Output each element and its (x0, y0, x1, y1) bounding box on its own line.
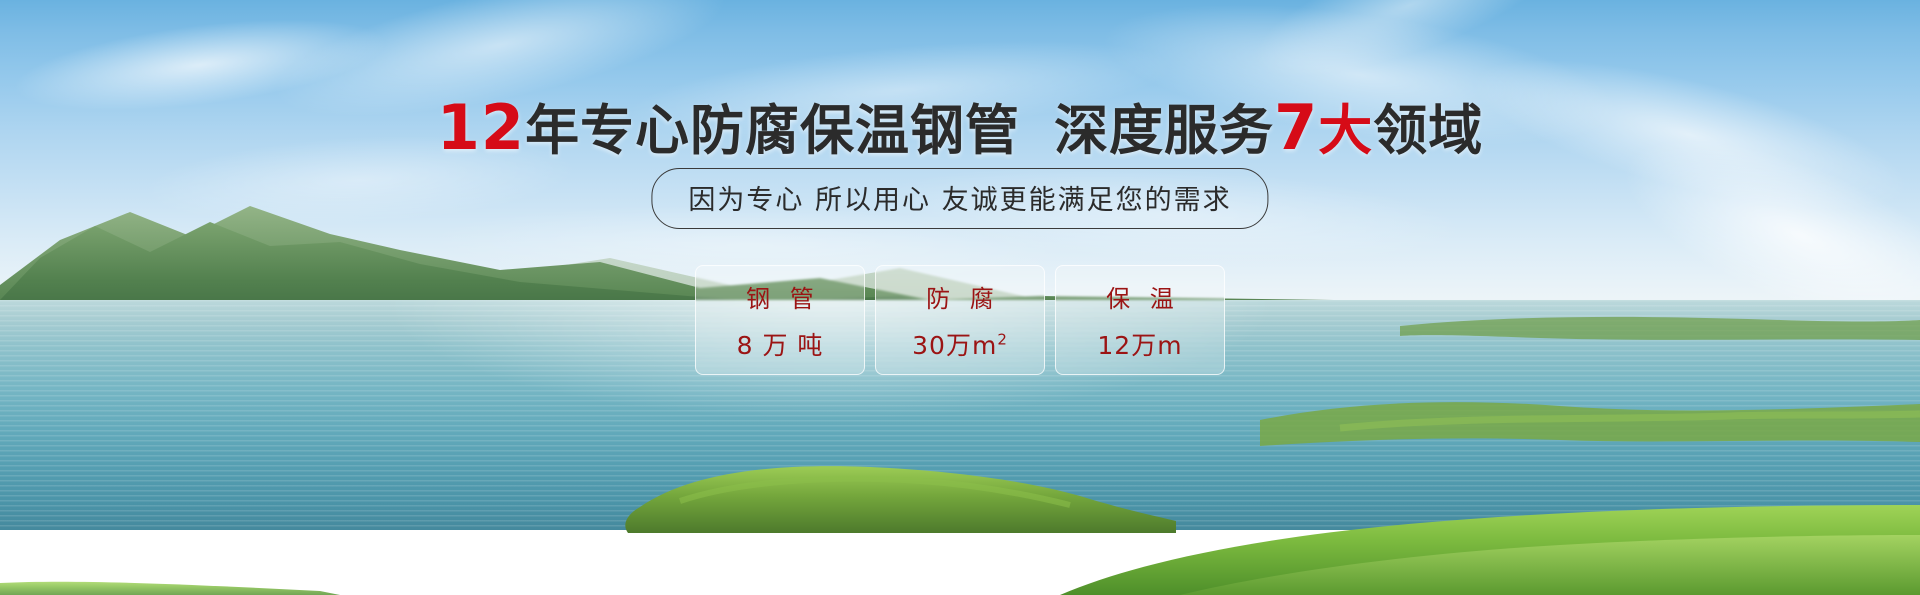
headline-years-number: 12 (437, 91, 525, 164)
stat-card-value-text: 30万m (912, 331, 997, 360)
stat-card-value-sup: 2 (997, 330, 1008, 348)
headline-part3: 大 (1318, 99, 1373, 162)
stat-card-steel-pipe[interactable]: 钢 管 8 万 吨 (695, 265, 865, 375)
headline: 12年专心防腐保温钢管深度服务7大领域 (0, 86, 1920, 165)
headline-part4: 领域 (1373, 99, 1483, 162)
stat-card-title: 钢 管 (740, 279, 820, 314)
stat-card-value: 30万m2 (912, 326, 1008, 362)
stat-card-value: 8 万 吨 (737, 326, 824, 362)
stat-card-insulation[interactable]: 保 温 12万m (1055, 265, 1225, 375)
headline-part1: 年专心防腐保温钢管 (525, 99, 1020, 162)
stat-card-value-text: 8 万 吨 (737, 331, 824, 360)
banner-content: 12年专心防腐保温钢管深度服务7大领域 因为专心 所以用心 友诚更能满足您的需求… (0, 0, 1920, 595)
stat-card-list: 钢 管 8 万 吨 防 腐 30万m2 保 温 12万m (695, 265, 1225, 375)
hero-banner: 12年专心防腐保温钢管深度服务7大领域 因为专心 所以用心 友诚更能满足您的需求… (0, 0, 1920, 595)
stat-card-value: 12万m (1097, 326, 1182, 362)
stat-card-value-text: 12万m (1097, 331, 1182, 360)
stat-card-anticorrosion[interactable]: 防 腐 30万m2 (875, 265, 1045, 375)
subtitle-pill: 因为专心 所以用心 友诚更能满足您的需求 (651, 168, 1268, 229)
headline-areas-number: 7 (1274, 91, 1318, 164)
stat-card-title: 保 温 (1100, 279, 1180, 314)
stat-card-title: 防 腐 (920, 279, 1000, 314)
headline-part2: 深度服务 (1054, 99, 1274, 162)
